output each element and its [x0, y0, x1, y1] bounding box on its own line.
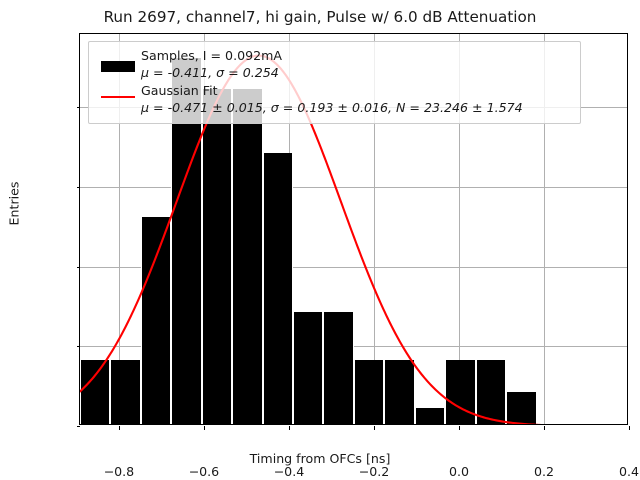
x-tickmark-3	[374, 426, 375, 430]
patch-icon	[101, 61, 135, 72]
legend-label-fit: Gaussian Fit	[141, 83, 523, 100]
plot-axes: −0.8−0.6−0.4−0.20.00.20.405101520 Sample…	[79, 33, 628, 425]
legend-stats-fit: μ = -0.471 ± 0.015, σ = 0.193 ± 0.016, N…	[141, 100, 523, 117]
legend-swatch-fit	[95, 83, 141, 98]
legend-stats-samples: μ = -0.411, σ = 0.254	[141, 65, 282, 82]
legend-entry-fit: Gaussian Fit μ = -0.471 ± 0.015, σ = 0.1…	[95, 83, 573, 116]
legend[interactable]: Samples, I = 0.092mA μ = -0.411, σ = 0.2…	[88, 41, 581, 124]
legend-text-samples: Samples, I = 0.092mA μ = -0.411, σ = 0.2…	[141, 48, 282, 81]
x-tick-label-5: 0.2	[509, 464, 579, 479]
x-tickmark-2	[289, 426, 290, 430]
y-tickmark-3	[77, 187, 81, 188]
x-tick-label-2: −0.4	[254, 464, 324, 479]
legend-entry-samples: Samples, I = 0.092mA μ = -0.411, σ = 0.2…	[95, 48, 573, 81]
x-axis-label: Timing from OFCs [ns]	[0, 451, 640, 466]
y-tickmark-4	[77, 107, 81, 108]
y-tickmark-0	[77, 426, 81, 427]
x-tick-label-1: −0.6	[169, 464, 239, 479]
chart-title: Run 2697, channel7, hi gain, Pulse w/ 6.…	[0, 8, 640, 26]
y-tickmark-2	[77, 267, 81, 268]
x-tickmark-1	[204, 426, 205, 430]
line-icon	[101, 96, 135, 98]
legend-text-fit: Gaussian Fit μ = -0.471 ± 0.015, σ = 0.1…	[141, 83, 523, 116]
y-axis-label: Entries	[7, 8, 22, 400]
x-tick-label-0: −0.8	[84, 464, 154, 479]
legend-label-samples: Samples, I = 0.092mA	[141, 48, 282, 65]
y-tickmark-1	[77, 346, 81, 347]
x-tick-label-3: −0.2	[339, 464, 409, 479]
x-tick-label-6: 0.4	[594, 464, 640, 479]
x-tickmark-0	[119, 426, 120, 430]
legend-swatch-samples	[95, 48, 141, 72]
x-tickmark-5	[544, 426, 545, 430]
x-tickmark-6	[629, 426, 630, 430]
x-tickmark-4	[459, 426, 460, 430]
x-tick-label-4: 0.0	[424, 464, 494, 479]
figure: Run 2697, channel7, hi gain, Pulse w/ 6.…	[0, 0, 640, 480]
